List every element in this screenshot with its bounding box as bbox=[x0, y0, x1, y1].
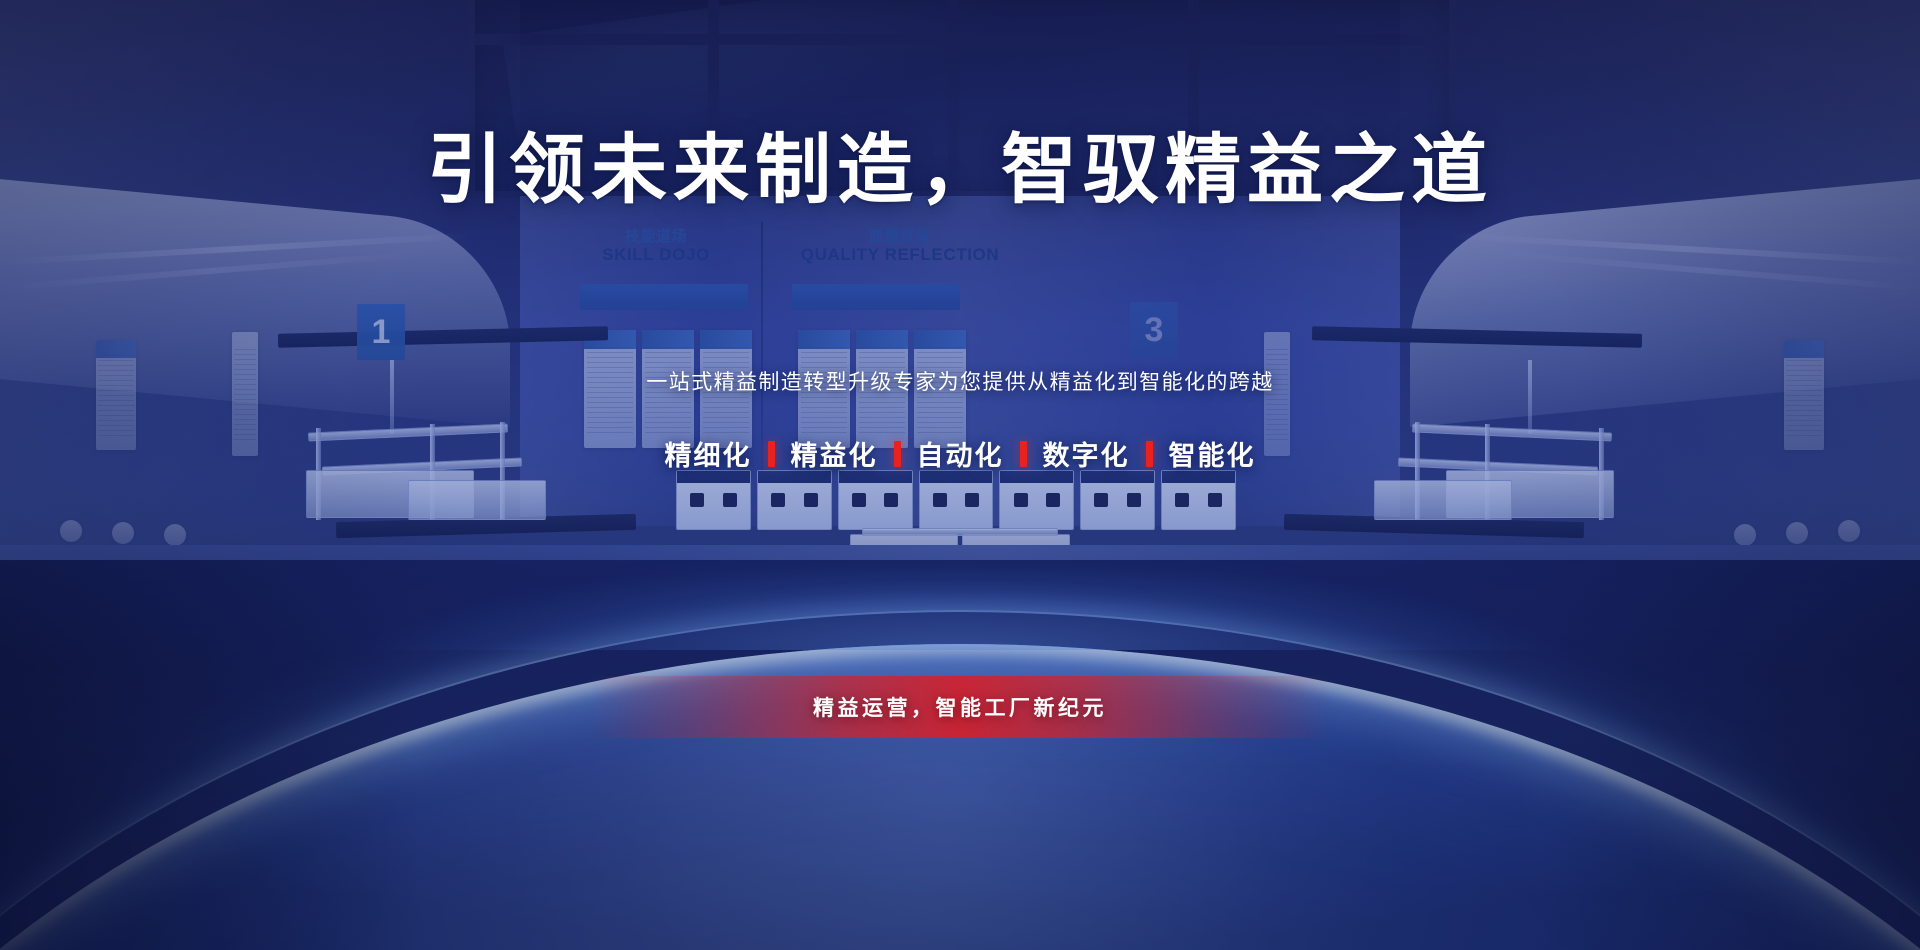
keyword-separator-icon bbox=[1146, 441, 1153, 467]
keyword-item: 自动化 bbox=[901, 434, 1020, 473]
keyword-item: 数字化 bbox=[1027, 434, 1146, 473]
banner-subtitle: 一站式精益制造转型升级专家为您提供从精益化到智能化的跨越 bbox=[0, 366, 1920, 396]
keyword-separator-icon bbox=[768, 441, 775, 467]
keyword-separator-icon bbox=[1020, 441, 1027, 467]
tagline-text: 精益运营，智能工厂新纪元 bbox=[813, 692, 1107, 722]
keyword-item: 精细化 bbox=[649, 434, 768, 473]
keyword-item: 智能化 bbox=[1153, 434, 1272, 473]
hero-banner: 技能道场 SKILL DOJO 质量反省 QUALITY REFLECTION … bbox=[0, 0, 1920, 950]
banner-content: 引领未来制造，智驭精益之道 一站式精益制造转型升级专家为您提供从精益化到智能化的… bbox=[0, 0, 1920, 950]
tagline-badge-wrapper: 精益运营，智能工厂新纪元 bbox=[0, 676, 1920, 738]
page-title: 引领未来制造，智驭精益之道 bbox=[0, 130, 1920, 212]
tagline-badge: 精益运营，智能工厂新纪元 bbox=[589, 676, 1331, 738]
keyword-separator-icon bbox=[894, 441, 901, 467]
keyword-item: 精益化 bbox=[775, 434, 894, 473]
keyword-list: 精细化 精益化 自动化 数字化 智能化 bbox=[0, 434, 1920, 473]
